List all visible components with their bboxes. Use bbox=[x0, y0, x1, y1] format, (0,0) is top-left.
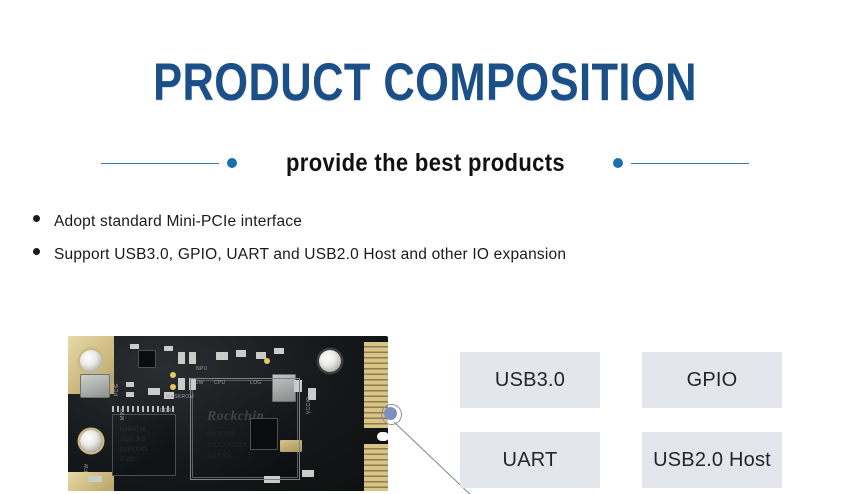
callout-dot-icon bbox=[384, 407, 397, 420]
silk-outline bbox=[190, 378, 300, 480]
smd-component bbox=[178, 378, 185, 390]
smd-component bbox=[126, 392, 134, 397]
feature-list: Adopt standard Mini-PCIe interface Suppo… bbox=[33, 212, 733, 278]
crystal-oscillator bbox=[80, 374, 110, 398]
smd-component bbox=[236, 350, 246, 357]
port-box-gpio[interactable]: GPIO bbox=[642, 352, 782, 408]
memory-chip: K4B4G162020 JH5D19XXXDX 230 bbox=[112, 414, 176, 476]
port-box-usb3[interactable]: USB3.0 bbox=[460, 352, 600, 408]
feature-label: Adopt standard Mini-PCIe interface bbox=[54, 212, 302, 232]
port-box-uart[interactable]: UART bbox=[460, 432, 600, 488]
bullet-dot-icon bbox=[33, 248, 40, 255]
subtitle-text: provide the best products bbox=[286, 149, 565, 177]
port-grid: USB3.0 GPIO UART USB2.0 Host bbox=[460, 352, 782, 488]
memory-partno-label: K4B4G162020 JH5D19XXXDX 230 bbox=[120, 425, 147, 465]
smd-component bbox=[178, 352, 185, 364]
smd-component bbox=[126, 382, 134, 387]
silk-label-pcie: PCIE bbox=[114, 383, 120, 396]
smd-component bbox=[216, 352, 228, 360]
silk-label-maskrom: MASKROM bbox=[166, 394, 194, 400]
feature-item: Adopt standard Mini-PCIe interface bbox=[33, 212, 733, 245]
mounting-hole-icon bbox=[319, 350, 341, 372]
product-board-image: Rockchip RK3399XXXXXXXXXXXXX K4B4G162020… bbox=[68, 336, 388, 491]
pcb-substrate: Rockchip RK3399XXXXXXXXXXXXX K4B4G162020… bbox=[68, 336, 388, 491]
port-box-usb2-host[interactable]: USB2.0 Host bbox=[642, 432, 782, 488]
silk-label-jw: JW bbox=[196, 380, 204, 386]
silk-label-mini: MINI bbox=[120, 408, 126, 420]
smd-component bbox=[164, 346, 173, 351]
silk-label-fw: FW bbox=[84, 464, 90, 472]
led-pad-icon bbox=[170, 384, 176, 390]
led-pad-icon bbox=[170, 372, 176, 378]
silk-label-ddr: DDR bbox=[160, 408, 172, 414]
subtitle-dot-right bbox=[613, 158, 623, 168]
subtitle-rule-left bbox=[101, 163, 219, 164]
silk-label-asm: ASM bbox=[110, 372, 116, 384]
smd-component bbox=[189, 352, 196, 364]
silk-label-log: LOG bbox=[250, 380, 261, 386]
subtitle-row: provide the best products bbox=[0, 146, 850, 180]
small-chip bbox=[138, 350, 156, 368]
smd-component bbox=[130, 344, 139, 349]
smd-component bbox=[88, 476, 102, 482]
feature-label: Support USB3.0, GPIO, UART and USB2.0 Ho… bbox=[54, 245, 566, 265]
mounting-hole-icon bbox=[80, 350, 102, 372]
smd-component bbox=[302, 470, 314, 477]
feature-item: Support USB3.0, GPIO, UART and USB2.0 Ho… bbox=[33, 245, 733, 278]
silk-label-cpu: CPU bbox=[214, 380, 225, 386]
bullet-dot-icon bbox=[33, 215, 40, 222]
silk-label-vccio: VCCIO bbox=[306, 397, 312, 414]
led-pad-icon bbox=[264, 358, 270, 364]
page-title: PRODUCT COMPOSITION bbox=[77, 55, 774, 111]
mounting-hole-icon bbox=[80, 430, 102, 452]
subtitle-rule-right bbox=[631, 163, 749, 164]
smd-component bbox=[274, 348, 284, 354]
smd-component bbox=[148, 388, 160, 395]
subtitle-dot-left bbox=[227, 158, 237, 168]
silk-label-npu: NPU bbox=[196, 366, 207, 372]
